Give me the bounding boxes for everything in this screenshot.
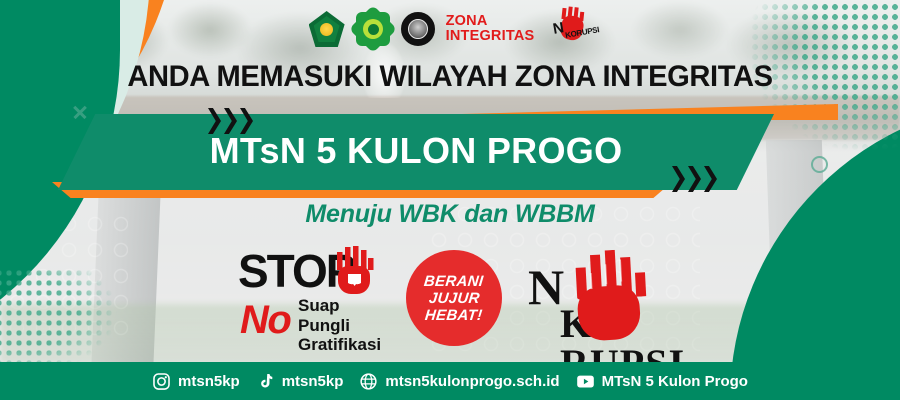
no-korupsi-logo: N K RUPSI bbox=[524, 252, 694, 348]
chevron-right-icon-right bbox=[672, 166, 717, 192]
tiktok-icon bbox=[256, 372, 275, 391]
footer-item-instagram[interactable]: mtsn5kp bbox=[152, 372, 240, 391]
no-word: No bbox=[240, 300, 290, 340]
logo-row: ZONA INTEGRITAS N KORUPSI bbox=[0, 6, 900, 52]
footer-text-tiktok: mtsn5kp bbox=[282, 373, 344, 390]
footer-text-instagram: mtsn5kp bbox=[178, 373, 240, 390]
zona-integritas-banner: ZONA INTEGRITAS N KORUPSI ANDA MEMASUKI … bbox=[0, 0, 900, 400]
stop-line-3: Gratifikasi bbox=[298, 335, 381, 355]
footer-item-website[interactable]: mtsn5kulonprogo.sch.id bbox=[359, 372, 559, 391]
stop-line-1: Suap bbox=[298, 296, 381, 316]
green-band-shape: MTsN 5 KULON PROGO bbox=[58, 114, 774, 190]
footer-text-website: mtsn5kulonprogo.sch.id bbox=[385, 373, 559, 390]
school-name: MTsN 5 KULON PROGO bbox=[210, 130, 623, 174]
chevron-right-icon-left bbox=[208, 108, 253, 134]
subtitle: Menuju WBK dan WBBM bbox=[0, 200, 900, 229]
globe-icon bbox=[359, 372, 378, 391]
zona-line-2: INTEGRITAS bbox=[446, 29, 535, 44]
footer-item-youtube[interactable]: MTsN 5 Kulon Progo bbox=[576, 372, 748, 391]
berani-line-1: BERANI bbox=[423, 273, 484, 290]
zona-integritas-wordmark: ZONA INTEGRITAS bbox=[446, 14, 535, 44]
stop-suap-pungli-gratifikasi-logo: STOP No Suap Pungli Gratifikasi bbox=[238, 248, 398, 348]
school-name-band: MTsN 5 KULON PROGO bbox=[0, 104, 900, 200]
page-title: ANDA MEMASUKI WILAYAH ZONA INTEGRITAS bbox=[14, 60, 887, 94]
instagram-icon bbox=[152, 372, 171, 391]
berani-line-2: JUJUR bbox=[428, 290, 480, 307]
footer-item-tiktok[interactable]: mtsn5kp bbox=[256, 372, 344, 391]
campaign-logo-row: STOP No Suap Pungli Gratifikasi BERANI J… bbox=[0, 244, 900, 354]
berani-line-3: HEBAT! bbox=[424, 307, 483, 324]
red-hand-icon bbox=[334, 250, 374, 294]
madrasah-logo bbox=[356, 12, 390, 46]
no-korupsi-logo-small: N KORUPSI bbox=[545, 12, 591, 46]
kemenag-logo bbox=[309, 11, 345, 47]
stop-lines: Suap Pungli Gratifikasi bbox=[298, 296, 381, 355]
stop-line-2: Pungli bbox=[298, 316, 381, 336]
berani-jujur-hebat-logo: BERANI JUJUR HEBAT! bbox=[406, 250, 502, 346]
footer-text-youtube: MTsN 5 Kulon Progo bbox=[602, 373, 748, 390]
youtube-icon bbox=[576, 372, 595, 391]
red-hand-icon bbox=[568, 252, 650, 344]
footer-bar: mtsn5kp mtsn5kp mtsn5kulonprogo.sch.id M… bbox=[0, 362, 900, 400]
no-korupsi-n: N bbox=[528, 262, 564, 312]
zona-line-1: ZONA bbox=[446, 14, 535, 29]
wbk-seal-logo bbox=[401, 12, 435, 46]
